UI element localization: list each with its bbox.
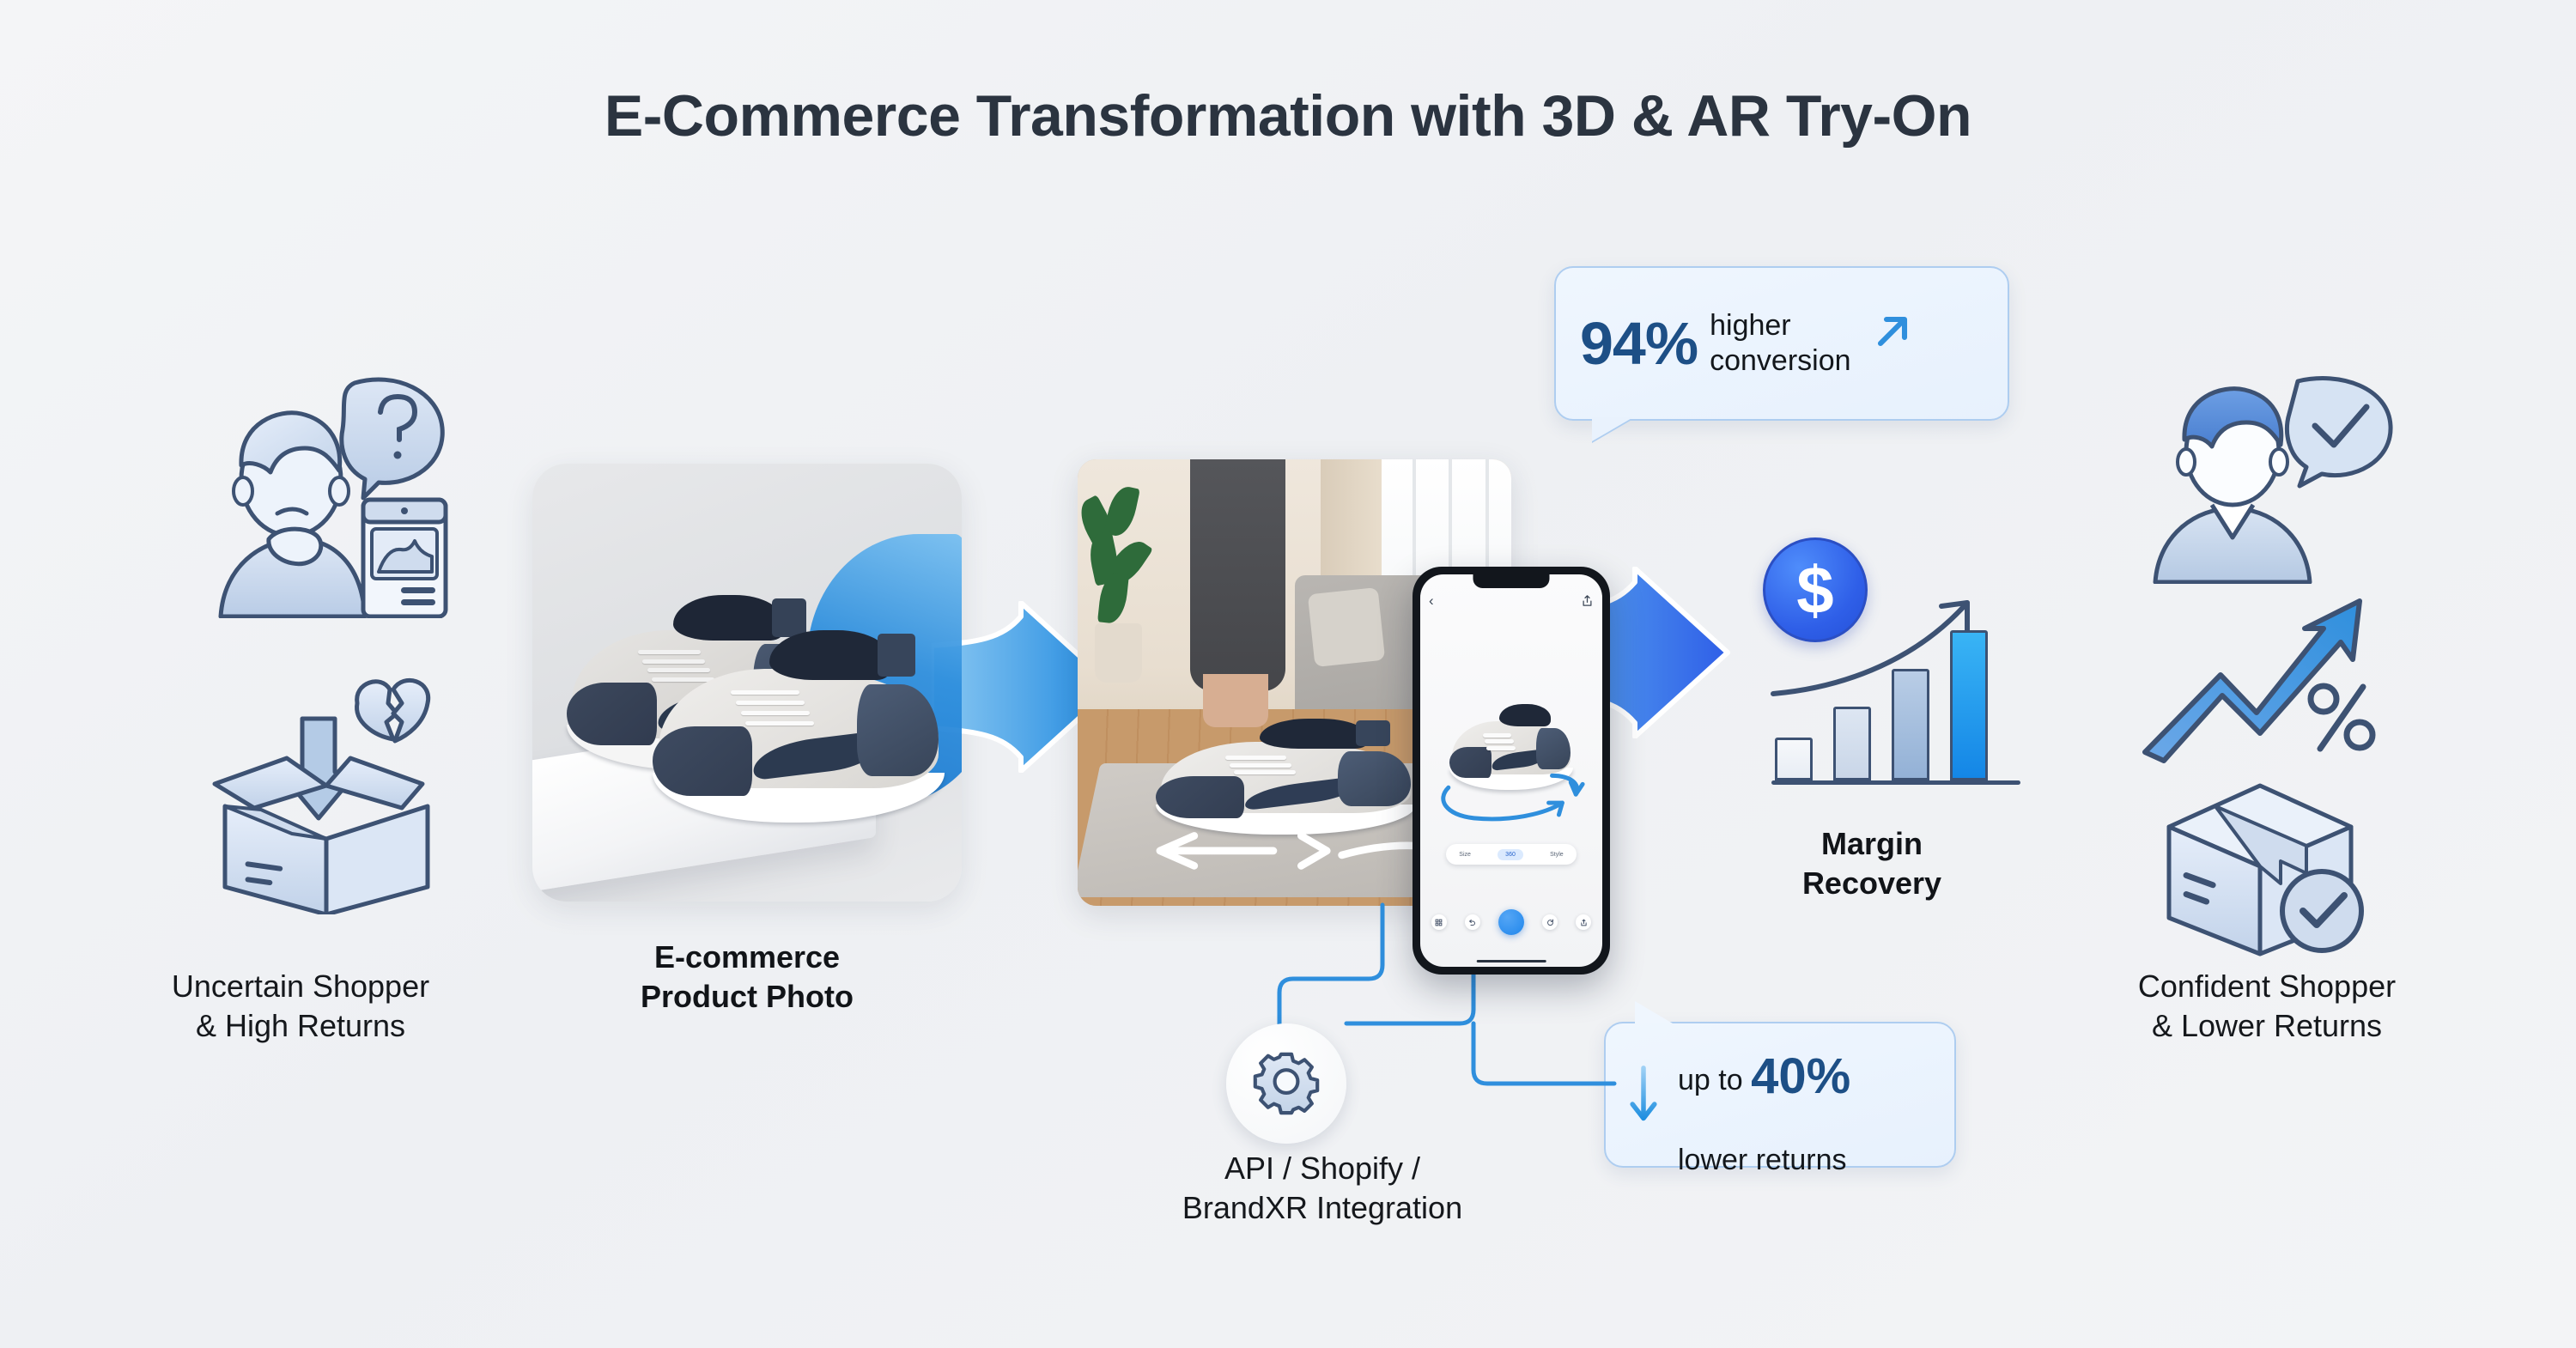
margin-recovery-chart: $ (1747, 532, 2031, 790)
leg (1190, 459, 1285, 691)
share-icon[interactable] (1576, 914, 1591, 930)
conversion-value: 94% (1580, 309, 1698, 378)
phone-notch (1473, 574, 1549, 588)
undo-icon[interactable] (1465, 914, 1480, 930)
home-indicator (1477, 960, 1546, 962)
product-photo-caption: E-commerce Product Photo (532, 938, 962, 1017)
delivered-box-icon (2138, 777, 2387, 962)
product-photo-card (532, 464, 962, 902)
page-title: E-Commerce Transformation with 3D & AR T… (0, 82, 2576, 149)
grid-icon[interactable] (1431, 914, 1447, 930)
margin-caption: Margin Recovery (1683, 824, 2061, 903)
segment-option-style[interactable]: Style (1550, 852, 1564, 858)
phone-rotate-arrows-icon (1435, 762, 1588, 833)
phone-toolbar[interactable] (1431, 909, 1592, 935)
conversion-label: higher conversion (1710, 308, 1850, 380)
plant-icon (1082, 486, 1156, 683)
share-icon[interactable] (1581, 594, 1594, 607)
infographic-canvas: E-Commerce Transformation with 3D & AR T… (0, 0, 2576, 1348)
confused-shopper-icon (202, 369, 459, 618)
return-box-icon (197, 665, 455, 914)
back-chevron-icon[interactable]: ‹ (1429, 593, 1434, 608)
integration-gear-node[interactable] (1226, 1023, 1346, 1144)
bar-3 (1892, 669, 1929, 780)
arrow-up-right-icon (1868, 307, 1917, 355)
bar-4 (1950, 630, 1988, 780)
ar-rotation-arrows-icon (1139, 817, 1460, 870)
integration-caption: API / Shopify / BrandXR Integration (1108, 1149, 1537, 1228)
bar-chart (1771, 630, 2020, 785)
segment-option-360[interactable]: 360 (1498, 849, 1523, 860)
refresh-icon[interactable] (1542, 914, 1558, 930)
right-stage-caption: Confident Shopper & Lower Returns (2044, 967, 2490, 1046)
capture-button[interactable] (1498, 909, 1524, 935)
bar-1 (1775, 738, 1813, 780)
gear-icon[interactable] (1253, 1050, 1320, 1117)
segment-option-size[interactable]: Size (1459, 852, 1471, 858)
returns-value: 40% (1751, 1048, 1850, 1104)
conversion-callout: 94% higher conversion (1554, 266, 2009, 421)
left-stage-caption: Uncertain Shopper & High Returns (77, 967, 524, 1046)
growth-percent-icon (2138, 592, 2387, 773)
confident-shopper-icon (2147, 369, 2396, 584)
product-shoe-front (653, 630, 945, 823)
phone-segmented-control[interactable]: Size 360 Style (1446, 844, 1577, 865)
ar-phone-mockup[interactable]: ‹ Size 360 (1413, 567, 1610, 975)
bar-2 (1833, 707, 1871, 780)
